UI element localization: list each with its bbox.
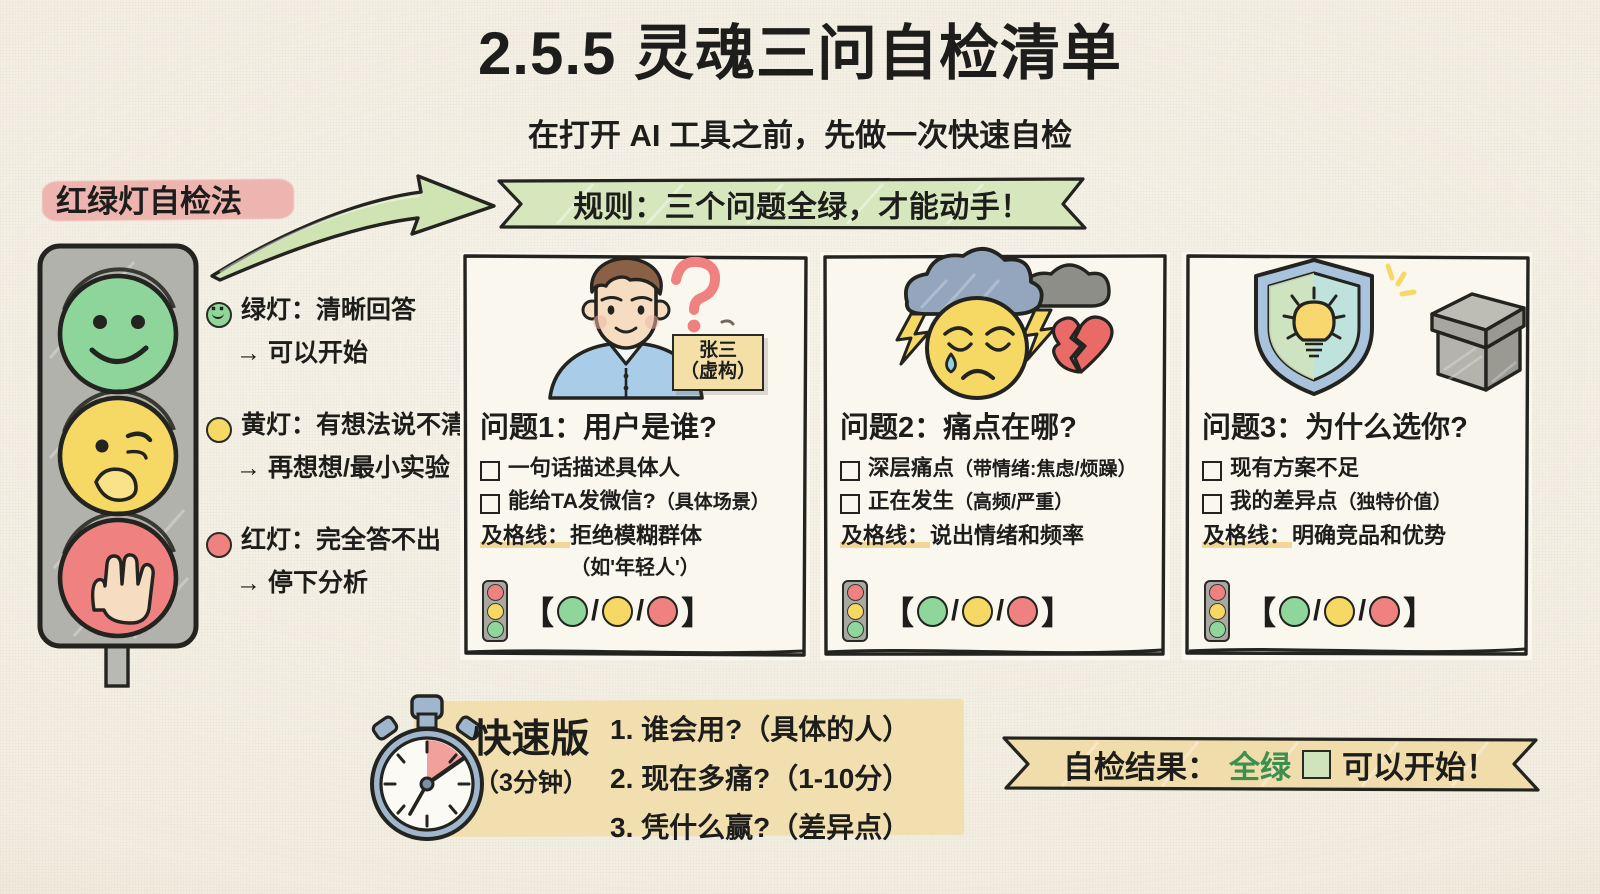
result-status: 全绿 xyxy=(1229,742,1291,787)
checkbox-icon[interactable] xyxy=(840,461,860,481)
result-banner: 自检结果： 全绿 可以开始！ xyxy=(1002,736,1558,792)
card-3-check-1[interactable]: 现有方案不足 xyxy=(1202,456,1516,481)
question-card-1: 张三 （虚构） 问题1：用户是谁? 一句话描述具体人 能给TA发微信?（具体场景… xyxy=(460,252,810,660)
traffic-light-legend: 绿灯：清晰回答 → 可以开始 黄灯：有想法说不清 → 再想想/最小实验 红灯：完… xyxy=(206,296,476,641)
page-title: 2.5.5 灵魂三问自检清单 xyxy=(0,22,1600,85)
card-2-standard: 及格线：说出情绪和频率 xyxy=(840,523,1154,549)
traffic-light-figure xyxy=(24,238,224,678)
quick-version-label: 快速版 （3分钟） xyxy=(456,720,606,799)
check-text: 我的差异点 xyxy=(1230,489,1338,513)
legend-green-line1: 绿灯：清晰回答 xyxy=(241,296,416,326)
check-text: 一句话描述具体人 xyxy=(508,456,680,480)
legend-item: 绿灯：清晰回答 → 可以开始 xyxy=(206,296,476,369)
name-tag-line2: （虚构） xyxy=(676,362,760,383)
check-text: 深层痛点 xyxy=(868,456,954,480)
rating-green-dot[interactable] xyxy=(917,596,948,627)
checkbox-icon[interactable] xyxy=(840,494,860,514)
bracket-close: 】 xyxy=(1403,588,1435,634)
green-dot-icon xyxy=(206,302,232,328)
card-2-art xyxy=(836,252,1154,402)
slash: / xyxy=(636,595,644,628)
legend-red-line1: 红灯：完全答不出 xyxy=(241,526,441,556)
legend-green-line2: → 可以开始 xyxy=(206,333,476,369)
quick-version-duration: （3分钟） xyxy=(456,763,606,799)
shield-bulb-box-icon xyxy=(1236,252,1526,402)
mini-traffic-light-icon xyxy=(842,580,868,642)
bracket-open: 【 xyxy=(522,588,554,634)
slash: / xyxy=(996,595,1004,628)
rule-banner: 规则：三个问题全绿，才能动手！ xyxy=(497,178,1107,230)
rating-yellow-dot[interactable] xyxy=(602,596,633,627)
red-dot-icon xyxy=(206,532,232,558)
legend-yellow-line1: 黄灯：有想法说不清 xyxy=(241,411,466,441)
rule-banner-text: 规则：三个问题全绿，才能动手！ xyxy=(497,178,1107,230)
card-1-rating[interactable]: 【 / / 】 xyxy=(522,588,713,634)
quick-item-3: 3. 凭什么赢?（差异点） xyxy=(610,806,910,846)
checkbox-icon[interactable] xyxy=(1202,494,1222,514)
quick-item-2: 2. 现在多痛?（1-10分） xyxy=(610,757,910,797)
card-1-question: 问题1：用户是谁? xyxy=(480,404,794,446)
slash: / xyxy=(591,595,599,628)
standard-label: 及格线： xyxy=(1202,523,1292,548)
card-3-rating-row: 【 / / 】 xyxy=(1204,580,1522,642)
checkbox-icon[interactable] xyxy=(480,461,500,481)
card-3-rating[interactable]: 【 / / 】 xyxy=(1244,588,1435,634)
standard-text: 说出情绪和频率 xyxy=(930,523,1084,548)
card-1-check-1[interactable]: 一句话描述具体人 xyxy=(480,456,794,481)
card-3-question: 问题3：为什么选你? xyxy=(1202,404,1516,446)
result-banner-text: 自检结果： 全绿 可以开始！ xyxy=(1002,736,1558,792)
card-1-standard-sub: （如'年轻人'） xyxy=(476,551,794,580)
bracket-open: 【 xyxy=(882,588,914,634)
question-card-3: 问题3：为什么选你? 现有方案不足 我的差异点（独特价值） 及格线：明确竞品和优… xyxy=(1182,252,1532,660)
result-suffix: 可以开始！ xyxy=(1342,742,1497,787)
card-1-rating-row: 【 / / 】 xyxy=(482,580,800,642)
card-2-check-1[interactable]: 深层痛点（带情绪:焦虑/烦躁） xyxy=(840,456,1154,481)
question-card-2: 问题2：痛点在哪? 深层痛点（带情绪:焦虑/烦躁） 正在发生（高频/严重） 及格… xyxy=(820,252,1170,660)
card-2-rating-row: 【 / / 】 xyxy=(842,580,1160,642)
check-note: （独特价值） xyxy=(1338,492,1452,513)
legend-yellow-line2: → 再想想/最小实验 xyxy=(206,448,476,484)
rating-yellow-dot[interactable] xyxy=(1324,596,1355,627)
mini-traffic-light-icon xyxy=(482,580,508,642)
bracket-open: 【 xyxy=(1244,588,1276,634)
card-1-art: 张三 （虚构） xyxy=(476,252,794,402)
slash: / xyxy=(951,595,959,628)
card-2-check-2[interactable]: 正在发生（高频/严重） xyxy=(840,489,1154,514)
checked-green-box-icon[interactable] xyxy=(1302,750,1331,779)
rating-green-dot[interactable] xyxy=(1279,596,1310,627)
rating-yellow-dot[interactable] xyxy=(962,596,993,627)
legend-red-line2: → 停下分析 xyxy=(206,563,476,599)
checkbox-icon[interactable] xyxy=(480,494,500,514)
standard-text: 拒绝模糊群体 xyxy=(570,523,702,548)
card-3-check-2[interactable]: 我的差异点（独特价值） xyxy=(1202,489,1516,514)
result-prefix: 自检结果： xyxy=(1063,742,1218,787)
standard-label: 及格线： xyxy=(480,523,570,548)
legend-item: 红灯：完全答不出 → 停下分析 xyxy=(206,526,476,599)
card-1-check-2[interactable]: 能给TA发微信?（具体场景） xyxy=(480,489,794,514)
yellow-dot-icon xyxy=(206,417,232,443)
check-text: 正在发生 xyxy=(868,489,954,513)
checkbox-icon[interactable] xyxy=(1202,461,1222,481)
card-3-art xyxy=(1198,252,1516,402)
check-text: 现有方案不足 xyxy=(1230,456,1359,480)
check-note: （高频/严重） xyxy=(954,492,1073,513)
check-note: （具体场景） xyxy=(656,492,770,513)
card-3-standard: 及格线：明确竞品和优势 xyxy=(1202,523,1516,549)
standard-text: 明确竞品和优势 xyxy=(1292,523,1446,548)
sad-face-storm-icon xyxy=(871,252,1161,402)
quick-item-1: 1. 谁会用?（具体的人） xyxy=(610,708,910,748)
check-note: （带情绪:焦虑/烦躁） xyxy=(954,459,1137,480)
page-subtitle: 在打开 AI 工具之前，先做一次快速自检 xyxy=(0,110,1600,155)
rating-red-dot[interactable] xyxy=(647,596,678,627)
slash: / xyxy=(1313,595,1321,628)
rating-red-dot[interactable] xyxy=(1369,596,1400,627)
quick-version-list: 1. 谁会用?（具体的人） 2. 现在多痛?（1-10分） 3. 凭什么赢?（差… xyxy=(610,708,910,855)
standard-label: 及格线： xyxy=(840,523,930,548)
bracket-close: 】 xyxy=(1041,588,1073,634)
slash: / xyxy=(1358,595,1366,628)
mini-traffic-light-icon xyxy=(1204,580,1230,642)
name-tag: 张三 （虚构） xyxy=(672,334,764,391)
legend-item: 黄灯：有想法说不清 → 再想想/最小实验 xyxy=(206,411,476,484)
rating-red-dot[interactable] xyxy=(1007,596,1038,627)
name-tag-line1: 张三 xyxy=(676,341,760,362)
quick-version-panel: 快速版 （3分钟） 1. 谁会用?（具体的人） 2. 现在多痛?（1-10分） … xyxy=(414,700,964,836)
card-1-standard: 及格线：拒绝模糊群体 xyxy=(480,523,794,549)
rating-green-dot[interactable] xyxy=(557,596,588,627)
check-text: 能给TA发微信? xyxy=(508,489,656,513)
quick-version-title: 快速版 xyxy=(456,720,606,761)
bracket-close: 】 xyxy=(681,588,713,634)
card-2-rating[interactable]: 【 / / 】 xyxy=(882,588,1073,634)
card-2-question: 问题2：痛点在哪? xyxy=(840,404,1154,446)
